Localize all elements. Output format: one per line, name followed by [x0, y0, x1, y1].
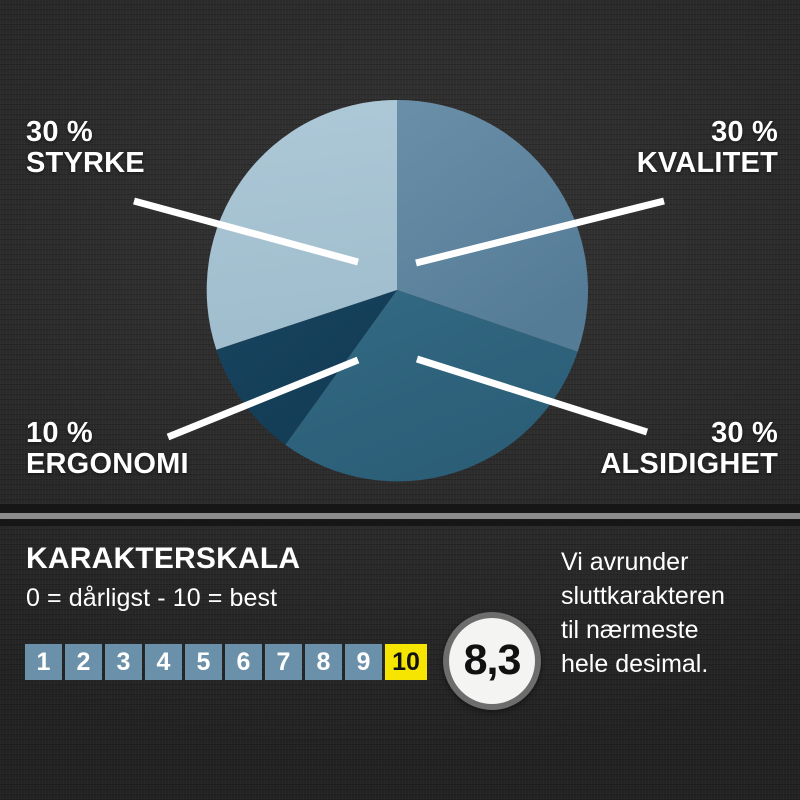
divider-shadow-bottom [0, 519, 800, 526]
pie-label-styrke-name: STYRKE [26, 148, 145, 179]
pie-chart-panel: 30 % STYRKE 30 % KVALITET 10 % ERGONOMI … [0, 0, 800, 513]
scale-box-5[interactable]: 5 [185, 644, 222, 680]
scale-box-9[interactable]: 9 [345, 644, 382, 680]
scale-box-10[interactable]: 10 [385, 644, 427, 680]
scale-subtitle: 0 = dårligst - 10 = best [26, 584, 277, 613]
pie-label-alsidighet: 30 % ALSIDIGHET [600, 418, 778, 479]
scale-strip: 1 2 3 4 5 6 7 8 9 10 [25, 644, 427, 680]
scale-box-1[interactable]: 1 [25, 644, 62, 680]
pie-label-styrke: 30 % STYRKE [26, 117, 145, 178]
score-value: 8,3 [464, 639, 521, 684]
section-divider [0, 504, 800, 526]
scale-box-2[interactable]: 2 [65, 644, 102, 680]
scale-box-4[interactable]: 4 [145, 644, 182, 680]
pie-label-alsidighet-name: ALSIDIGHET [600, 449, 778, 480]
scale-box-8[interactable]: 8 [305, 644, 342, 680]
score-badge: 8,3 [443, 612, 541, 710]
pie-label-ergonomi-percent: 10 % [26, 418, 189, 449]
pie-label-ergonomi-name: ERGONOMI [26, 449, 189, 480]
rounding-note-line-1: Vi avrunder [561, 545, 797, 579]
rounding-note-line-3: til nærmeste [561, 613, 797, 647]
pie-label-kvalitet-percent: 30 % [637, 117, 778, 148]
divider-shadow-top [0, 504, 800, 513]
scale-box-3[interactable]: 3 [105, 644, 142, 680]
pie-label-kvalitet: 30 % KVALITET [637, 117, 778, 178]
pie-label-styrke-percent: 30 % [26, 117, 145, 148]
infographic-page: 30 % STYRKE 30 % KVALITET 10 % ERGONOMI … [0, 0, 800, 800]
rounding-note: Vi avrunder sluttkarakteren til nærmeste… [561, 545, 797, 681]
scale-title: KARAKTERSKALA [26, 542, 300, 576]
rounding-note-line-4: hele desimal. [561, 647, 797, 681]
rounding-note-line-2: sluttkarakteren [561, 579, 797, 613]
pie-label-kvalitet-name: KVALITET [637, 148, 778, 179]
pie-label-alsidighet-percent: 30 % [600, 418, 778, 449]
scale-box-7[interactable]: 7 [265, 644, 302, 680]
pie-label-ergonomi: 10 % ERGONOMI [26, 418, 189, 479]
scale-box-6[interactable]: 6 [225, 644, 262, 680]
